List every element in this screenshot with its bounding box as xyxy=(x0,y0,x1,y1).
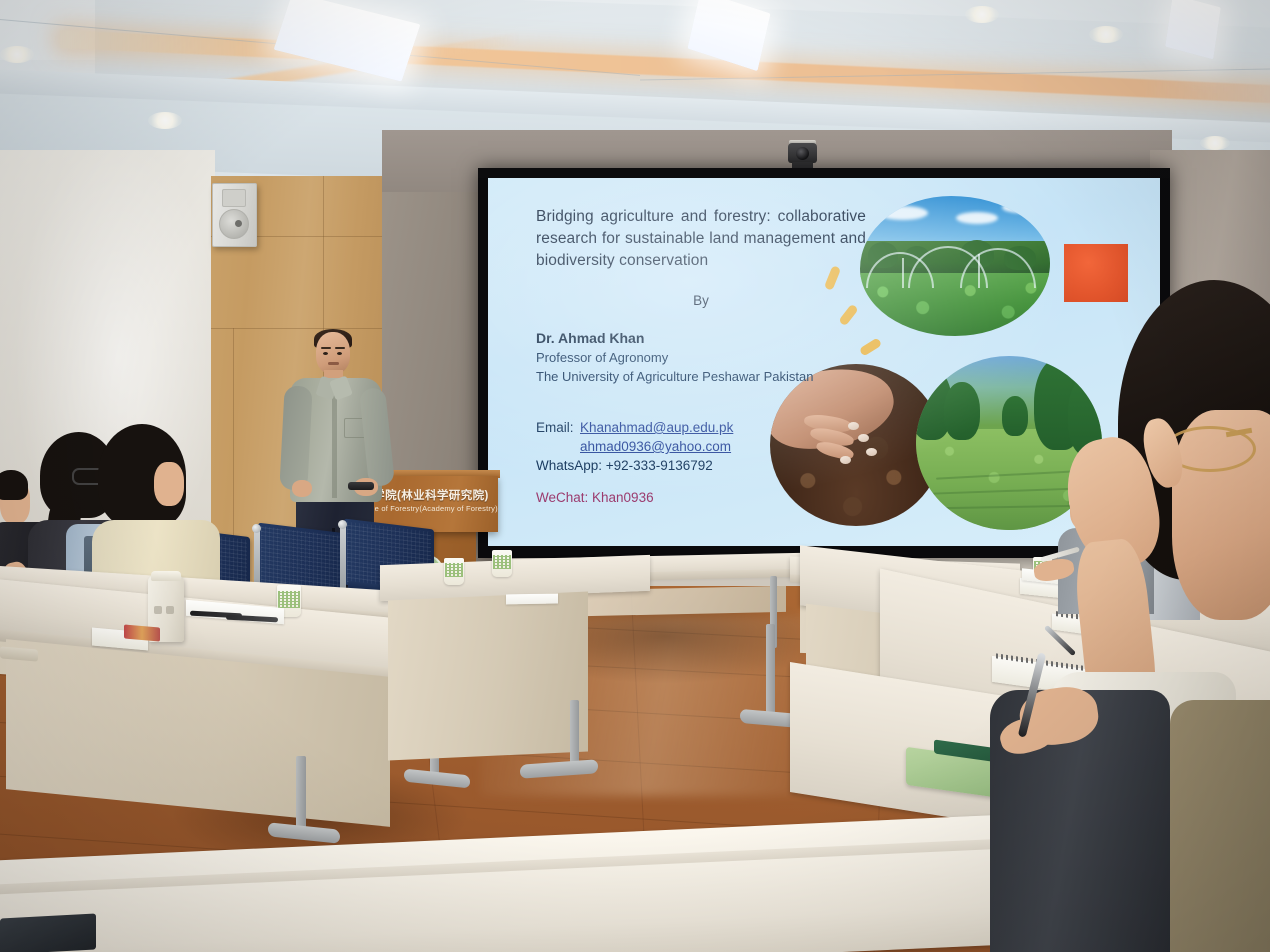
camera-lens-icon xyxy=(796,147,809,160)
downlight xyxy=(0,46,34,63)
presenter-eye xyxy=(323,352,328,355)
downlight xyxy=(965,6,999,23)
ptz-camera xyxy=(786,140,819,170)
thermos-lid xyxy=(151,571,181,581)
smartphone[interactable] xyxy=(0,913,96,952)
presenter-brow xyxy=(335,347,345,349)
presenter-shirt-placket xyxy=(332,390,337,498)
photo-scene: Bridging agriculture and forestry: colla… xyxy=(0,0,1270,952)
downlight xyxy=(148,112,182,129)
paper-cup[interactable] xyxy=(444,558,464,585)
speaker-woofer xyxy=(219,209,249,239)
presentation-clicker[interactable] xyxy=(348,482,374,490)
presenter-brow xyxy=(321,347,331,349)
presenter-hand xyxy=(292,480,312,497)
presenter-mouth xyxy=(328,362,339,365)
paper-cup[interactable] xyxy=(492,550,512,577)
speaker-cone-center xyxy=(235,220,242,227)
jacket xyxy=(1170,700,1270,952)
presenter-arm xyxy=(279,385,312,490)
table-modesty-panel xyxy=(388,591,588,760)
paper-sheet[interactable] xyxy=(506,594,558,605)
screen-bezel xyxy=(478,168,1170,178)
downlight xyxy=(1089,26,1123,43)
downlight xyxy=(1200,136,1230,150)
wall-speaker xyxy=(212,183,257,247)
audience-person-foreground xyxy=(962,600,1182,952)
presenter-eye xyxy=(337,352,342,355)
speaker-tweeter xyxy=(222,189,246,207)
presenter-head xyxy=(316,332,350,374)
